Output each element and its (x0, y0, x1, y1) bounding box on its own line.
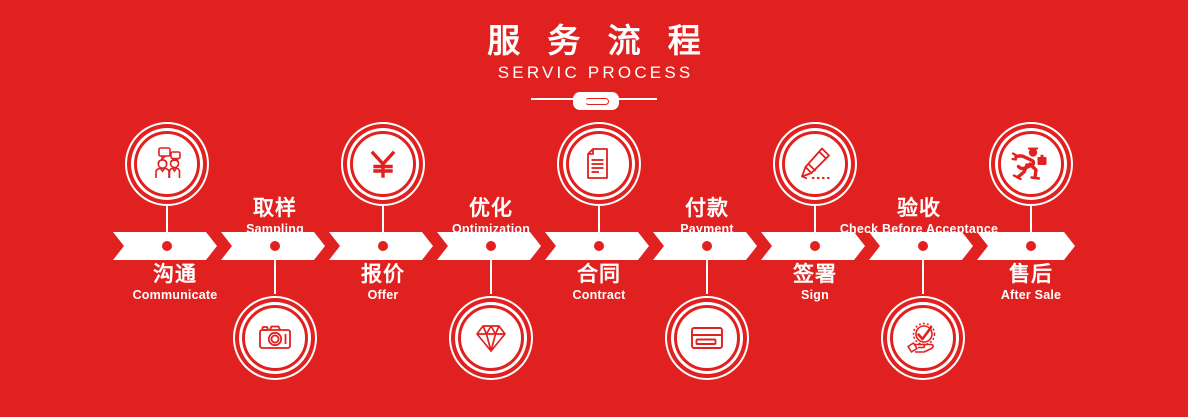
people-chat-icon (140, 137, 194, 191)
step-label-cn: 沟通 (107, 262, 243, 287)
diamond-icon (464, 311, 518, 365)
step-label-en: Communicate (107, 287, 243, 303)
step-label-communicate: 沟通 Communicate (107, 262, 243, 303)
header: 服 务 流 程 SERVIC PROCESS (0, 22, 1188, 107)
document-icon (572, 137, 626, 191)
step-label-sampling: 取样 Sampling (207, 196, 343, 237)
step-icon-payment[interactable] (665, 296, 749, 380)
running-delivery-icon (1004, 137, 1058, 191)
step-label-after-sale: 售后 After Sale (963, 262, 1099, 303)
step-label-en: Contract (531, 287, 667, 303)
step-label-payment: 付款 Payment (639, 196, 775, 237)
step-icon-check-before-acceptance[interactable] (881, 296, 965, 380)
service-process-infographic: 服 务 流 程 SERVIC PROCESS (0, 0, 1188, 417)
step-icon-sampling[interactable] (233, 296, 317, 380)
step-icon-contract[interactable] (557, 122, 641, 206)
step-label-en: Offer (315, 287, 451, 303)
step-label-en: Sampling (207, 221, 343, 237)
step-label-cn: 验收 (823, 196, 1015, 221)
connector-stem (814, 206, 816, 236)
step-dot (486, 241, 496, 251)
connector-stem (922, 256, 924, 294)
step-label-en: Check Before Acceptance (823, 221, 1015, 237)
step-dot (270, 241, 280, 251)
step-dot (594, 241, 604, 251)
step-label-cn: 取样 (207, 196, 343, 221)
step-dot (810, 241, 820, 251)
camera-icon (248, 311, 302, 365)
paperclip-divider-icon (529, 91, 659, 107)
step-dot (378, 241, 388, 251)
step-label-optimization: 优化 Optimization (423, 196, 559, 237)
step-dot (1026, 241, 1036, 251)
divider-line-left (531, 98, 577, 100)
page-title-cn: 服 务 流 程 (0, 22, 1188, 60)
step-label-offer: 报价 Offer (315, 262, 451, 303)
step-icon-after-sale[interactable] (989, 122, 1073, 206)
page-title-en: SERVIC PROCESS (0, 62, 1188, 84)
credit-card-icon (680, 311, 734, 365)
hand-check-badge-icon (896, 311, 950, 365)
step-icon-optimization[interactable] (449, 296, 533, 380)
step-dot (162, 241, 172, 251)
step-label-cn: 报价 (315, 262, 451, 287)
paperclip-shape (573, 92, 619, 110)
step-label-en: After Sale (963, 287, 1099, 303)
paperclip-inner (585, 98, 609, 105)
step-label-cn: 签署 (747, 262, 883, 287)
step-label-cn: 付款 (639, 196, 775, 221)
yen-currency-icon (356, 137, 410, 191)
connector-stem (598, 206, 600, 236)
step-icon-sign[interactable] (773, 122, 857, 206)
step-label-en: Sign (747, 287, 883, 303)
step-label-cn: 合同 (531, 262, 667, 287)
pencil-sign-icon (788, 137, 842, 191)
step-dot (702, 241, 712, 251)
step-icon-offer[interactable] (341, 122, 425, 206)
step-icon-communicate[interactable] (125, 122, 209, 206)
step-dot (918, 241, 928, 251)
connector-stem (1030, 206, 1032, 236)
step-label-cn: 售后 (963, 262, 1099, 287)
step-label-cn: 优化 (423, 196, 559, 221)
connector-stem (490, 256, 492, 294)
connector-stem (274, 256, 276, 294)
step-label-sign: 签署 Sign (747, 262, 883, 303)
step-label-en: Payment (639, 221, 775, 237)
connector-stem (166, 206, 168, 236)
connector-stem (382, 206, 384, 236)
step-label-check-before-acceptance: 验收 Check Before Acceptance (823, 196, 1015, 237)
connector-stem (706, 256, 708, 294)
step-label-en: Optimization (423, 221, 559, 237)
step-label-contract: 合同 Contract (531, 262, 667, 303)
